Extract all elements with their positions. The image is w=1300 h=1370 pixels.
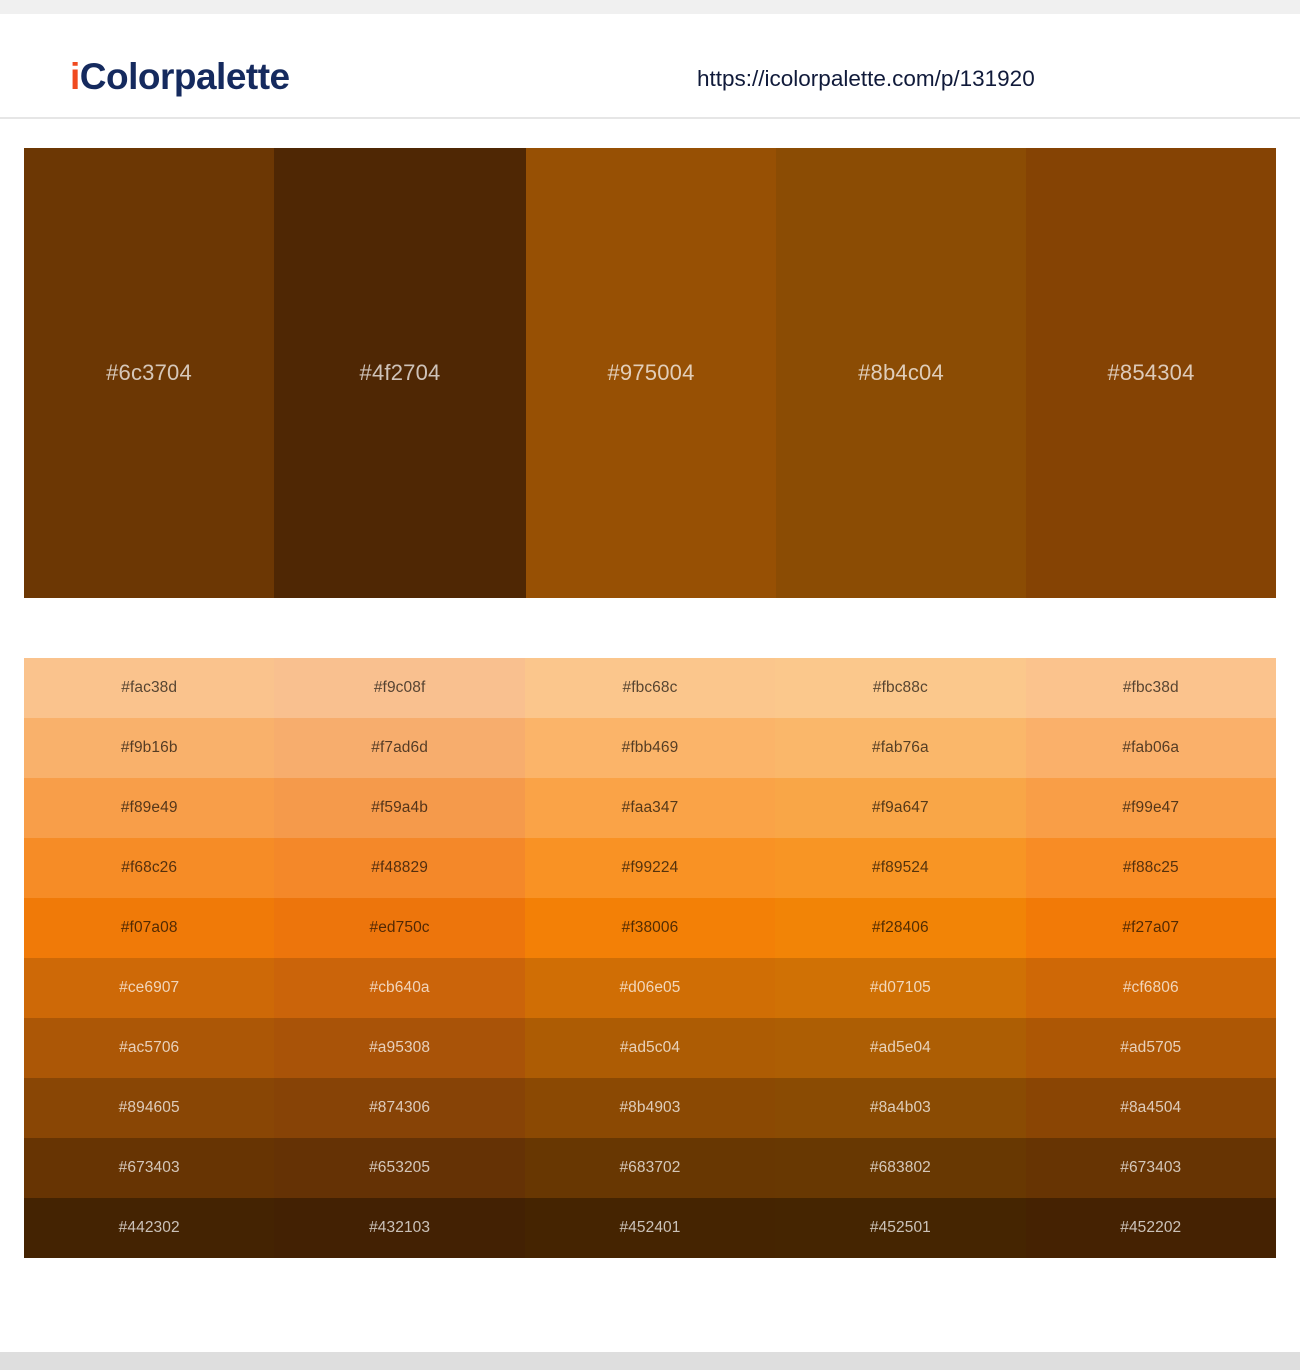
shade-cell-hex-label: #fac38d (121, 679, 177, 697)
shade-cell-hex-label: #8a4b03 (870, 1099, 931, 1117)
site-header: iColorpalette https://icolorpalette.com/… (0, 14, 1300, 119)
palette-swatch[interactable]: #8b4c04 (776, 148, 1026, 598)
shade-cell[interactable]: #fbc38d (1026, 658, 1276, 718)
shade-cell-hex-label: #452501 (870, 1219, 931, 1237)
shade-cell-hex-label: #d07105 (870, 979, 931, 997)
shade-cell-hex-label: #f89e49 (121, 799, 178, 817)
logo-text: Colorpalette (80, 56, 290, 97)
shades-grid: #fac38d#f9c08f#fbc68c#fbc88c#fbc38d#f9b1… (24, 658, 1276, 1258)
shade-row: #ac5706#a95308#ad5c04#ad5e04#ad5705 (24, 1018, 1276, 1078)
shade-row: #894605#874306#8b4903#8a4b03#8a4504 (24, 1078, 1276, 1138)
shade-cell[interactable]: #fbc88c (775, 658, 1025, 718)
shade-cell-hex-label: #683802 (870, 1159, 931, 1177)
shade-cell[interactable]: #8a4504 (1026, 1078, 1276, 1138)
shade-cell[interactable]: #d07105 (775, 958, 1025, 1018)
shade-row: #fac38d#f9c08f#fbc68c#fbc88c#fbc38d (24, 658, 1276, 718)
shade-cell-hex-label: #f99e47 (1122, 799, 1179, 817)
shade-cell[interactable]: #f27a07 (1026, 898, 1276, 958)
shade-row: #f9b16b#f7ad6d#fbb469#fab76a#fab06a (24, 718, 1276, 778)
shade-cell[interactable]: #f07a08 (24, 898, 274, 958)
shade-cell-hex-label: #fbc38d (1123, 679, 1179, 697)
bottom-background-strip (0, 1352, 1300, 1370)
shade-cell-hex-label: #f9a647 (872, 799, 929, 817)
shade-cell-hex-label: #683702 (619, 1159, 680, 1177)
shade-cell[interactable]: #874306 (274, 1078, 524, 1138)
palette-swatch[interactable]: #4f2704 (274, 148, 526, 598)
shade-cell-hex-label: #673403 (119, 1159, 180, 1177)
shade-row: #442302#432103#452401#452501#452202 (24, 1198, 1276, 1258)
shade-cell-hex-label: #432103 (369, 1219, 430, 1237)
palette-swatch-hex-label: #4f2704 (360, 360, 441, 386)
logo-accent-letter: i (70, 56, 80, 97)
shade-cell[interactable]: #673403 (24, 1138, 274, 1198)
shade-cell[interactable]: #f88c25 (1026, 838, 1276, 898)
shade-cell[interactable]: #894605 (24, 1078, 274, 1138)
shade-cell[interactable]: #f9a647 (775, 778, 1025, 838)
shade-cell[interactable]: #f89524 (775, 838, 1025, 898)
shade-cell[interactable]: #d06e05 (525, 958, 775, 1018)
shade-cell-hex-label: #faa347 (622, 799, 679, 817)
shade-cell-hex-label: #fbc68c (622, 679, 677, 697)
shade-row: #f68c26#f48829#f99224#f89524#f88c25 (24, 838, 1276, 898)
shade-row: #f89e49#f59a4b#faa347#f9a647#f99e47 (24, 778, 1276, 838)
shade-cell[interactable]: #653205 (274, 1138, 524, 1198)
shade-cell-hex-label: #8b4903 (619, 1099, 680, 1117)
shade-cell[interactable]: #fbc68c (525, 658, 775, 718)
shade-row: #673403#653205#683702#683802#673403 (24, 1138, 1276, 1198)
palette-swatch[interactable]: #975004 (526, 148, 776, 598)
palette-swatch[interactable]: #854304 (1026, 148, 1276, 598)
shade-cell-hex-label: #f99224 (622, 859, 679, 877)
shade-cell-hex-label: #f9c08f (374, 679, 426, 697)
shade-cell-hex-label: #f88c25 (1123, 859, 1179, 877)
shade-cell-hex-label: #f59a4b (371, 799, 428, 817)
shade-cell[interactable]: #f28406 (775, 898, 1025, 958)
shade-cell[interactable]: #ed750c (274, 898, 524, 958)
palette-swatch-hex-label: #8b4c04 (858, 360, 944, 386)
shade-cell[interactable]: #f99e47 (1026, 778, 1276, 838)
shade-cell[interactable]: #a95308 (274, 1018, 524, 1078)
shade-cell[interactable]: #8b4903 (525, 1078, 775, 1138)
shade-cell[interactable]: #452401 (525, 1198, 775, 1258)
shade-cell-hex-label: #f38006 (622, 919, 679, 937)
page-url: https://icolorpalette.com/p/131920 (697, 66, 1035, 92)
shade-cell[interactable]: #683802 (775, 1138, 1025, 1198)
shade-cell[interactable]: #452202 (1026, 1198, 1276, 1258)
shade-row: #ce6907#cb640a#d06e05#d07105#cf6806 (24, 958, 1276, 1018)
shade-cell[interactable]: #432103 (274, 1198, 524, 1258)
shade-cell[interactable]: #ad5e04 (775, 1018, 1025, 1078)
shade-cell[interactable]: #f59a4b (274, 778, 524, 838)
shade-cell-hex-label: #d06e05 (619, 979, 680, 997)
shade-cell-hex-label: #f89524 (872, 859, 929, 877)
shade-cell[interactable]: #f9c08f (274, 658, 524, 718)
shade-cell-hex-label: #f9b16b (121, 739, 178, 757)
shade-cell-hex-label: #a95308 (369, 1039, 430, 1057)
shade-cell-hex-label: #fab06a (1122, 739, 1179, 757)
shade-cell[interactable]: #cb640a (274, 958, 524, 1018)
shade-cell[interactable]: #673403 (1026, 1138, 1276, 1198)
main-palette-band: #6c3704#4f2704#975004#8b4c04#854304 (24, 148, 1276, 598)
shade-cell-hex-label: #452401 (619, 1219, 680, 1237)
shade-cell[interactable]: #f38006 (525, 898, 775, 958)
shade-cell-hex-label: #fbc88c (873, 679, 928, 697)
shade-cell-hex-label: #f48829 (371, 859, 428, 877)
shade-cell-hex-label: #653205 (369, 1159, 430, 1177)
shade-cell[interactable]: #ad5c04 (525, 1018, 775, 1078)
shade-cell-hex-label: #442302 (119, 1219, 180, 1237)
shade-cell[interactable]: #f9b16b (24, 718, 274, 778)
shade-cell[interactable]: #f68c26 (24, 838, 274, 898)
shade-cell[interactable]: #ad5705 (1026, 1018, 1276, 1078)
shade-cell-hex-label: #fab76a (872, 739, 929, 757)
shade-cell[interactable]: #fab06a (1026, 718, 1276, 778)
palette-swatch-hex-label: #6c3704 (106, 360, 192, 386)
shade-cell[interactable]: #f7ad6d (274, 718, 524, 778)
shade-cell-hex-label: #cf6806 (1123, 979, 1179, 997)
shade-cell[interactable]: #f89e49 (24, 778, 274, 838)
shade-cell[interactable]: #fab76a (775, 718, 1025, 778)
shade-cell[interactable]: #683702 (525, 1138, 775, 1198)
shade-cell-hex-label: #ad5705 (1120, 1039, 1181, 1057)
shade-cell[interactable]: #f99224 (525, 838, 775, 898)
shade-cell-hex-label: #f27a07 (1122, 919, 1179, 937)
shade-row: #f07a08#ed750c#f38006#f28406#f27a07 (24, 898, 1276, 958)
shade-cell-hex-label: #ac5706 (119, 1039, 179, 1057)
shade-cell[interactable]: #fbb469 (525, 718, 775, 778)
shade-cell-hex-label: #452202 (1120, 1219, 1181, 1237)
shade-cell-hex-label: #ad5e04 (870, 1039, 931, 1057)
shade-cell-hex-label: #ed750c (369, 919, 429, 937)
shade-cell[interactable]: #f48829 (274, 838, 524, 898)
shade-cell[interactable]: #ac5706 (24, 1018, 274, 1078)
shade-cell-hex-label: #874306 (369, 1099, 430, 1117)
shade-cell-hex-label: #ad5c04 (620, 1039, 680, 1057)
shade-cell-hex-label: #f07a08 (121, 919, 178, 937)
shade-cell-hex-label: #f28406 (872, 919, 929, 937)
shade-cell[interactable]: #ce6907 (24, 958, 274, 1018)
shade-cell-hex-label: #894605 (119, 1099, 180, 1117)
shade-cell-hex-label: #ce6907 (119, 979, 179, 997)
shade-cell-hex-label: #fbb469 (622, 739, 679, 757)
shade-cell[interactable]: #442302 (24, 1198, 274, 1258)
shade-cell[interactable]: #8a4b03 (775, 1078, 1025, 1138)
shade-cell[interactable]: #cf6806 (1026, 958, 1276, 1018)
shade-cell[interactable]: #faa347 (525, 778, 775, 838)
shade-cell[interactable]: #fac38d (24, 658, 274, 718)
shade-cell-hex-label: #cb640a (369, 979, 429, 997)
shade-cell-hex-label: #8a4504 (1120, 1099, 1181, 1117)
palette-swatch[interactable]: #6c3704 (24, 148, 274, 598)
shade-cell-hex-label: #673403 (1120, 1159, 1181, 1177)
shade-cell-hex-label: #f7ad6d (371, 739, 428, 757)
shade-cell[interactable]: #452501 (775, 1198, 1025, 1258)
shade-cell-hex-label: #f68c26 (121, 859, 177, 877)
top-background-strip (0, 0, 1300, 14)
palette-swatch-hex-label: #854304 (1107, 360, 1194, 386)
palette-swatch-hex-label: #975004 (607, 360, 694, 386)
site-logo[interactable]: iColorpalette (70, 58, 290, 95)
